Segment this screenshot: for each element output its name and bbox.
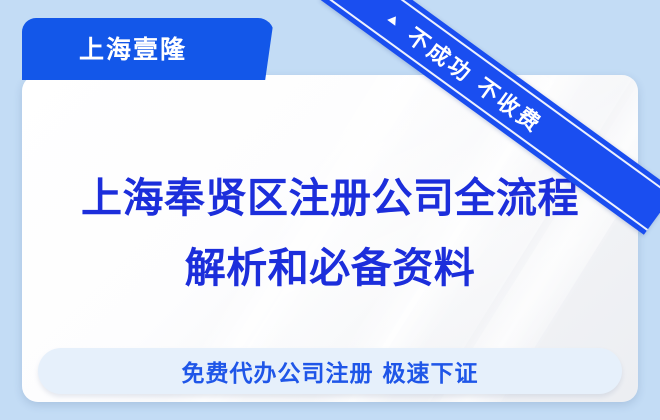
page-title: 上海奉贤区注册公司全流程 解析和必备资料	[22, 163, 638, 303]
page-title-line-2: 解析和必备资料	[22, 233, 638, 303]
cta-banner[interactable]: 免费代办公司注册 极速下证	[38, 348, 622, 394]
brand-tab: 上海壹隆	[22, 18, 274, 80]
page-title-line-1: 上海奉贤区注册公司全流程	[81, 174, 579, 222]
brand-tab-label: 上海壹隆	[22, 18, 244, 80]
cta-banner-label: 免费代办公司注册 极速下证	[181, 354, 478, 388]
promo-poster: 上海壹隆 上海奉贤区注册公司全流程 解析和必备资料 免费代办公司注册 极速下证 …	[0, 0, 660, 420]
